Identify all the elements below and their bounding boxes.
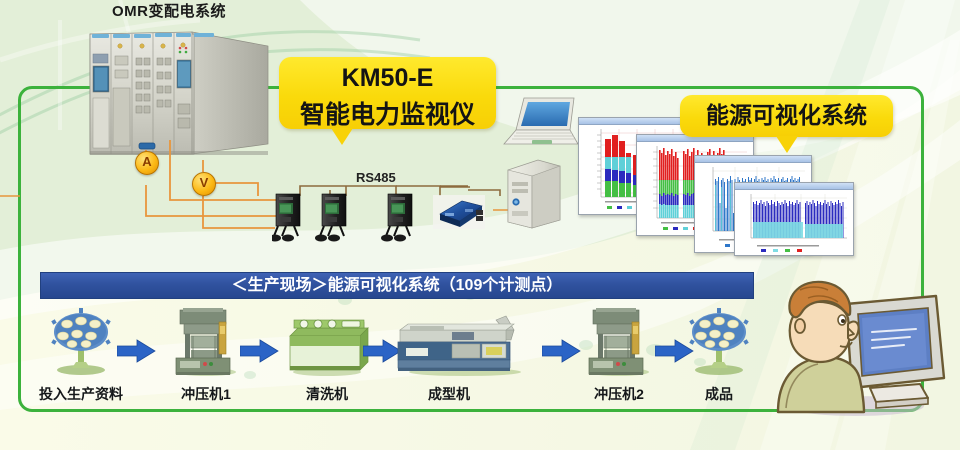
callout-energy-visualization: 能源可视化系统 — [680, 95, 893, 137]
window-titlebar — [735, 183, 853, 190]
process-step-label: 投入生产资料 — [22, 384, 140, 404]
voltage-transformer-icon: V — [192, 172, 216, 196]
process-step-label: 清洗机 — [268, 384, 386, 404]
process-step-label: 成型机 — [374, 384, 524, 404]
molding-machine-icon — [390, 306, 540, 376]
process-step-label: 冲压机1 — [147, 384, 265, 404]
callout-line1: KM50-E — [279, 57, 496, 94]
current-transformer-icon: A — [135, 151, 159, 175]
callout-line1: 能源可视化系统 — [680, 95, 893, 129]
server-tower-icon — [502, 156, 566, 232]
area-chart — [735, 190, 853, 255]
callout-pointer — [331, 128, 353, 145]
laptop-computer-icon — [500, 96, 580, 158]
window-titlebar — [695, 156, 811, 163]
operator-and-monitor — [760, 268, 956, 418]
callout-line2: 智能电力监视仪 — [279, 94, 496, 131]
production-site-banner: ＜生产现场＞能源可视化系统（109个计测点） — [40, 272, 754, 299]
energy-chart-window-4[interactable] — [734, 182, 854, 256]
rs485-bus-label: RS485 — [356, 170, 396, 185]
window-titlebar — [579, 118, 691, 125]
process-step-4: 成型机 — [390, 306, 540, 402]
rs485-converter-icon — [432, 194, 490, 234]
banner-text: ＜生产现场＞能源可视化系统（109个计测点） — [41, 273, 753, 298]
callout-pointer — [776, 136, 798, 153]
callout-km50e: KM50-E 智能电力监视仪 — [279, 57, 496, 129]
energy-monitoring-diagram: OMR变配电系统 — [0, 0, 960, 450]
